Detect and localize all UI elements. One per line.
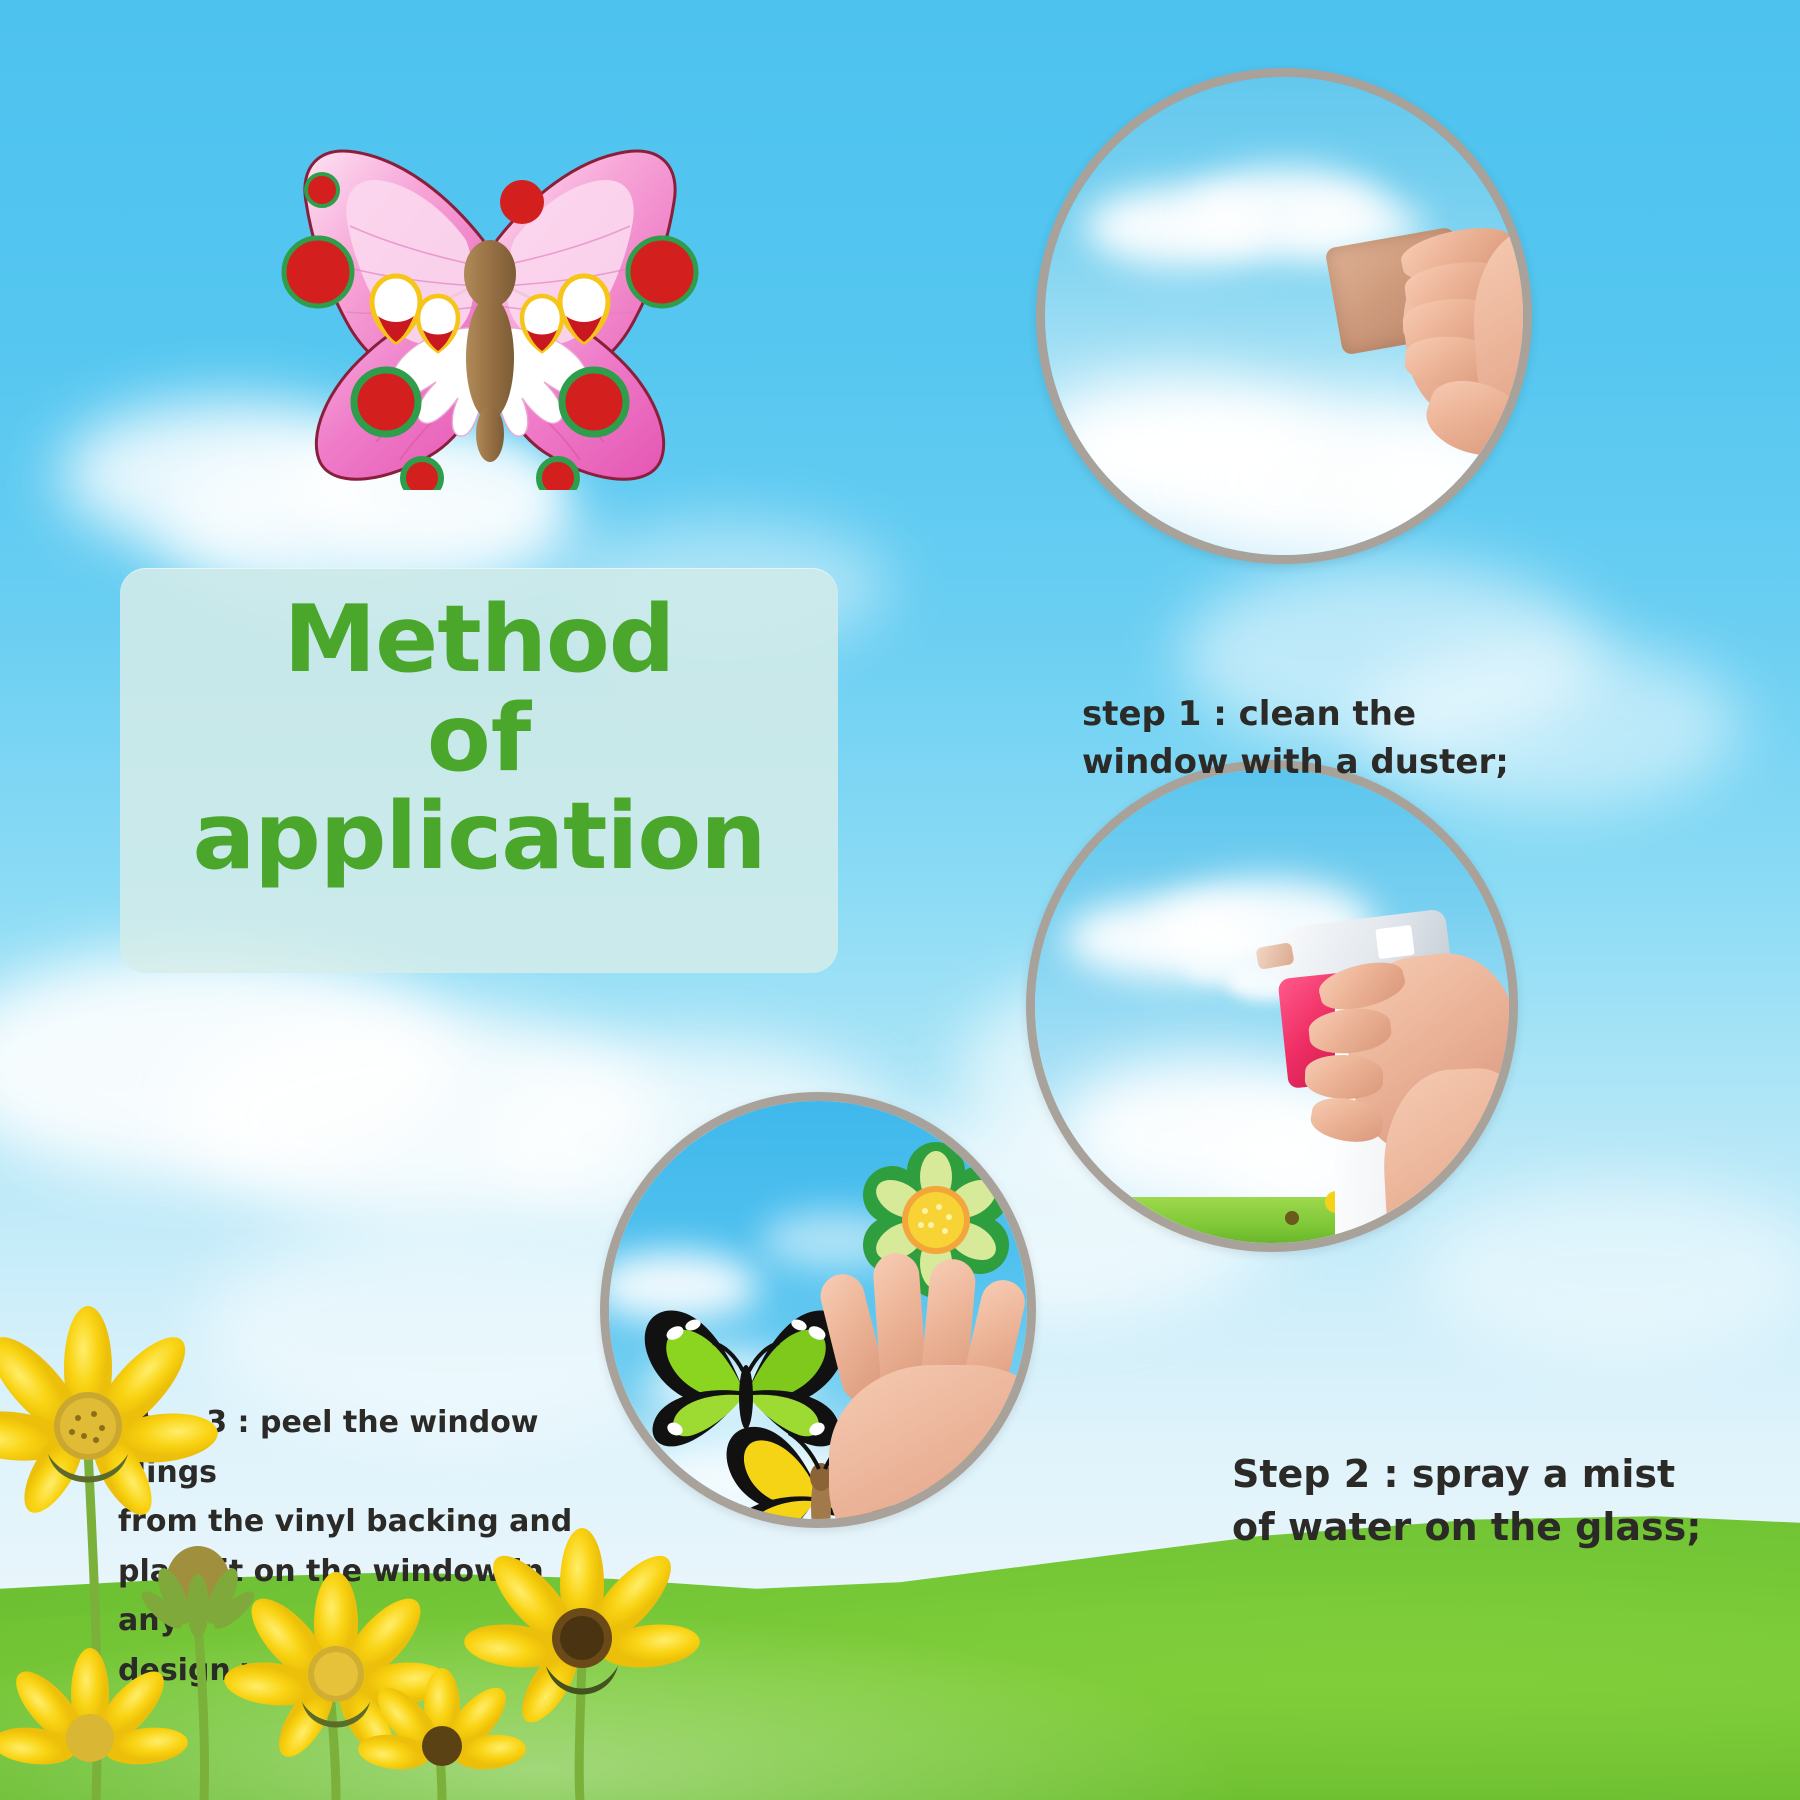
title-line-1: Method: [120, 590, 838, 689]
step-1-line-2: window with a duster;: [1082, 738, 1552, 786]
spray-bottle-label: [1375, 925, 1414, 959]
step-1-caption: step 1 : clean the window with a duster;: [1082, 690, 1552, 787]
step-2-line-2: of water on the glass;: [1232, 1501, 1752, 1554]
infographic-canvas: Method of application step 1 : clean the…: [0, 0, 1800, 1800]
pink-butterfly-decal: [200, 90, 780, 490]
step-2-photo: [1026, 760, 1518, 1252]
step-1-line-1: step 1 : clean the: [1082, 690, 1552, 738]
yellow-coreopsis-flowers: [0, 1270, 750, 1800]
step-2-line-1: Step 2 : spray a mist: [1232, 1448, 1752, 1501]
step-2-caption: Step 2 : spray a mist of water on the gl…: [1232, 1448, 1752, 1554]
title-line-3: application: [120, 787, 838, 886]
step-1-photo: [1036, 68, 1532, 564]
page-title: Method of application: [120, 590, 838, 886]
title-line-2: of: [120, 689, 838, 788]
